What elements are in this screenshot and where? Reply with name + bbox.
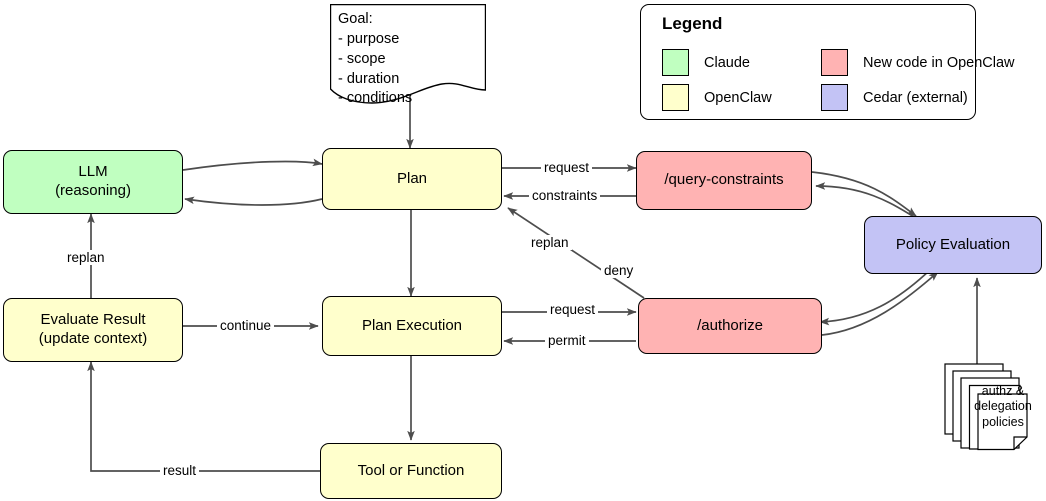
legend-swatch-claude xyxy=(662,49,689,76)
edge-label-constraints: constraints xyxy=(529,188,600,203)
edge-tool-to-evaluate xyxy=(91,362,320,471)
edge-label-request-top: request xyxy=(541,160,592,175)
edge-llm-to-plan xyxy=(183,162,322,170)
node-plan-label: Plan xyxy=(397,170,427,189)
edge-label-result: result xyxy=(160,463,199,478)
legend-item-new-code: New code in OpenClaw xyxy=(821,49,1015,76)
legend-swatch-new-code xyxy=(821,49,848,76)
node-policies[interactable]: authz & delegation policies xyxy=(944,363,1040,451)
node-llm[interactable]: LLM (reasoning) xyxy=(3,150,183,214)
legend-title: Legend xyxy=(662,14,722,34)
node-evaluate-result-label: Evaluate Result (update context) xyxy=(39,311,147,349)
diagram-canvas: Goal: - purpose - scope - duration - con… xyxy=(0,0,1046,501)
legend-label-claude: Claude xyxy=(704,55,750,71)
policies-label: authz & delegation policies xyxy=(970,384,1036,430)
legend-item-cedar: Cedar (external) xyxy=(821,84,968,111)
node-plan[interactable]: Plan xyxy=(322,148,502,210)
edge-plan-to-llm xyxy=(185,199,322,205)
legend-panel: Legend Claude OpenClaw New code in OpenC… xyxy=(640,4,976,120)
edge-authorize-to-policy xyxy=(822,272,938,335)
edge-label-replan-diagonal: replan xyxy=(528,235,572,250)
edge-label-request-bottom: request xyxy=(547,302,598,317)
edge-label-replan-left: replan xyxy=(64,250,108,265)
node-plan-execution-label: Plan Execution xyxy=(362,317,462,336)
legend-swatch-openclaw xyxy=(662,84,689,111)
legend-label-new-code: New code in OpenClaw xyxy=(863,55,1015,71)
edge-label-permit: permit xyxy=(545,333,589,348)
node-authorize[interactable]: /authorize xyxy=(638,298,822,354)
edge-label-deny: deny xyxy=(601,263,636,278)
node-policy-evaluation-label: Policy Evaluation xyxy=(896,236,1010,255)
node-tool-or-function-label: Tool or Function xyxy=(358,462,465,481)
legend-item-openclaw: OpenClaw xyxy=(662,84,772,111)
goal-note-text: Goal: - purpose - scope - duration - con… xyxy=(338,10,412,109)
goal-note: Goal: - purpose - scope - duration - con… xyxy=(330,4,486,108)
legend-label-cedar: Cedar (external) xyxy=(863,90,968,106)
node-policy-evaluation[interactable]: Policy Evaluation xyxy=(864,216,1042,274)
legend-item-claude: Claude xyxy=(662,49,750,76)
node-evaluate-result[interactable]: Evaluate Result (update context) xyxy=(3,298,183,362)
node-authorize-label: /authorize xyxy=(697,317,763,336)
node-tool-or-function[interactable]: Tool or Function xyxy=(320,443,502,499)
edge-authorize-deny-to-plan xyxy=(508,208,644,298)
node-query-constraints-label: /query-constraints xyxy=(664,171,783,190)
legend-swatch-cedar xyxy=(821,84,848,111)
node-query-constraints[interactable]: /query-constraints xyxy=(636,151,812,210)
node-plan-execution[interactable]: Plan Execution xyxy=(322,296,502,356)
node-llm-label: LLM (reasoning) xyxy=(55,163,131,201)
edge-policy-to-authorize xyxy=(820,270,930,322)
edge-label-continue: continue xyxy=(217,318,274,333)
edge-query-constraints-to-policy xyxy=(812,172,916,216)
legend-label-openclaw: OpenClaw xyxy=(704,90,772,106)
